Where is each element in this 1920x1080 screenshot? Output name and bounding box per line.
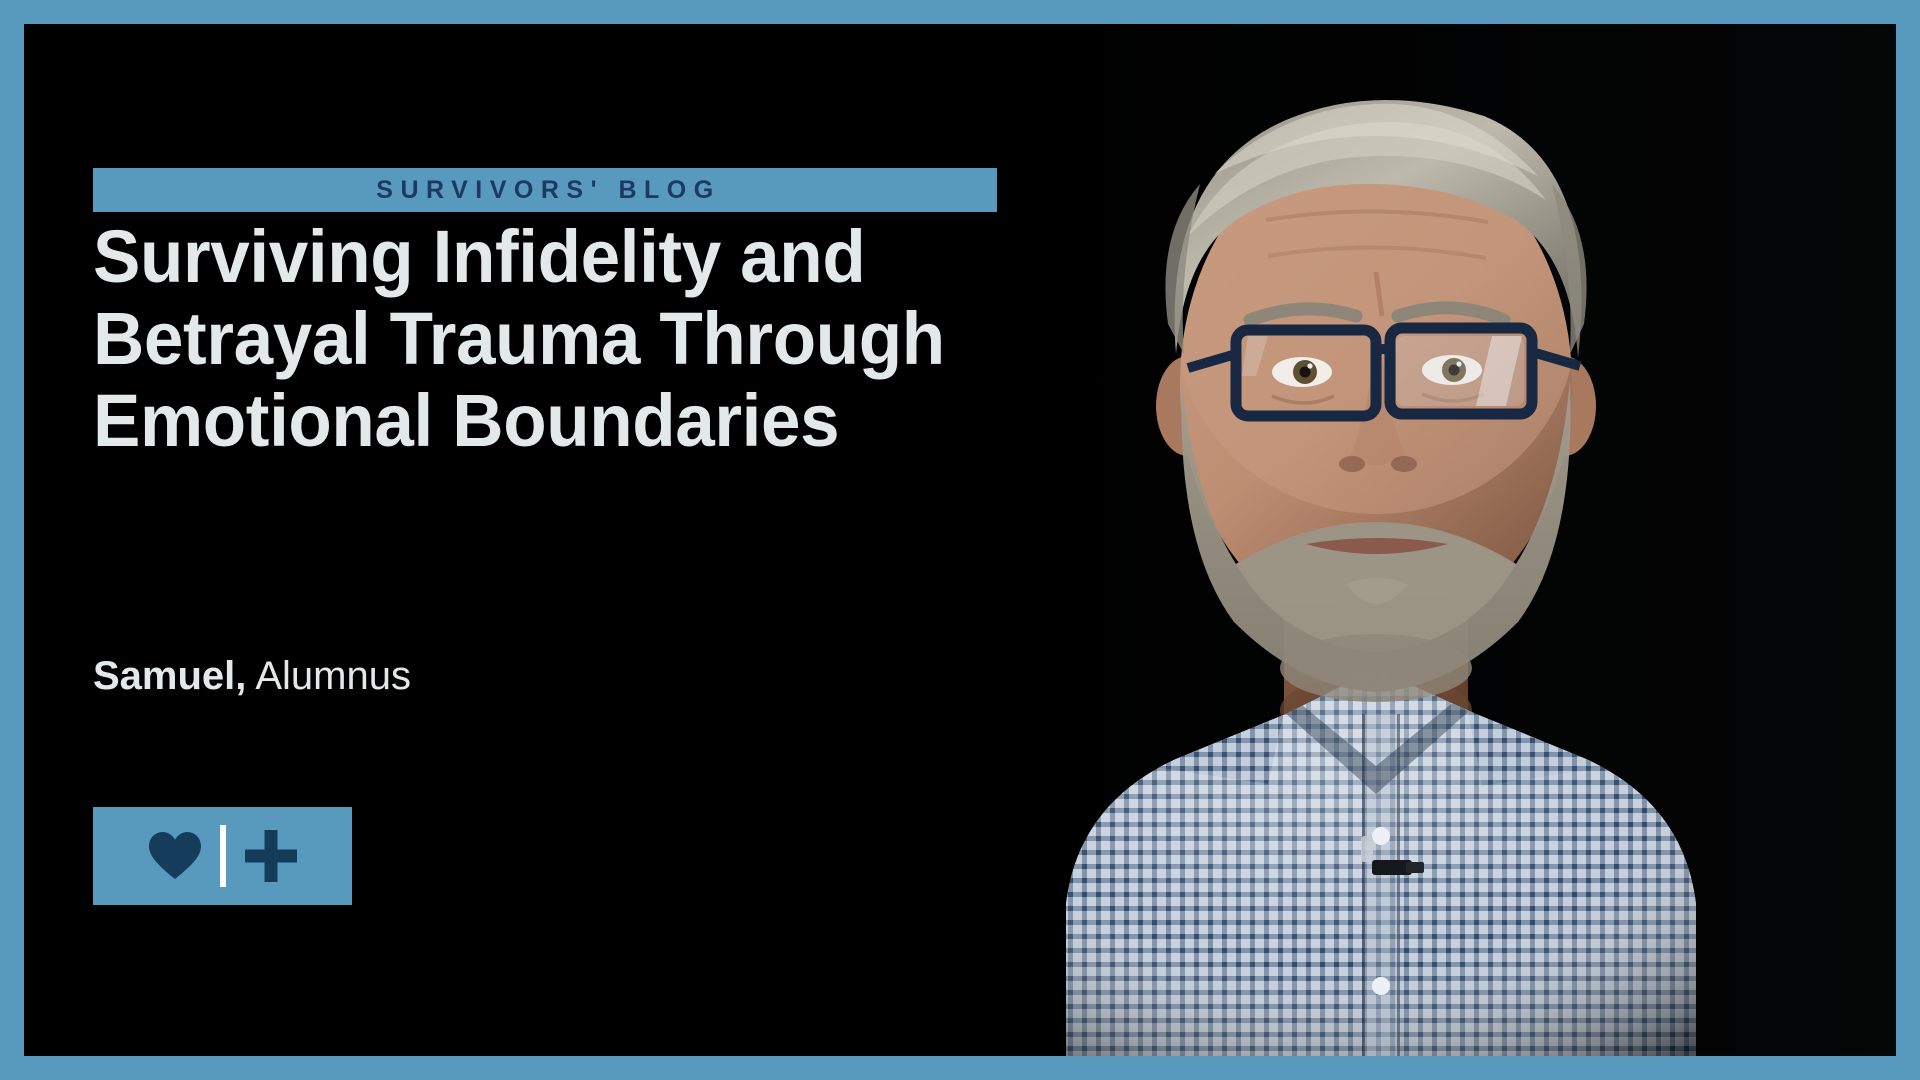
heart-icon[interactable] (138, 831, 212, 881)
promo-card: SURVIVORS' BLOG Surviving Infidelity and… (24, 24, 1896, 1056)
vertical-divider (220, 825, 226, 887)
action-bar[interactable] (93, 807, 352, 905)
plus-icon[interactable] (234, 830, 308, 882)
byline-name: Samuel, (93, 654, 246, 698)
page-title: Surviving Infidelity and Betrayal Trauma… (93, 216, 976, 461)
card-content: SURVIVORS' BLOG Surviving Infidelity and… (93, 24, 1073, 1056)
byline-role: Alumnus (255, 654, 411, 698)
page-title-line-1: Surviving Infidelity and (93, 216, 976, 298)
page-title-line-2: Betrayal Trauma Through (93, 298, 976, 380)
blue-border-frame: SURVIVORS' BLOG Surviving Infidelity and… (0, 0, 1920, 1080)
byline: Samuel, Alumnus (93, 656, 411, 696)
category-badge[interactable]: SURVIVORS' BLOG (93, 168, 997, 212)
category-badge-label: SURVIVORS' BLOG (369, 178, 720, 203)
page-title-line-3: Emotional Boundaries (93, 380, 976, 462)
